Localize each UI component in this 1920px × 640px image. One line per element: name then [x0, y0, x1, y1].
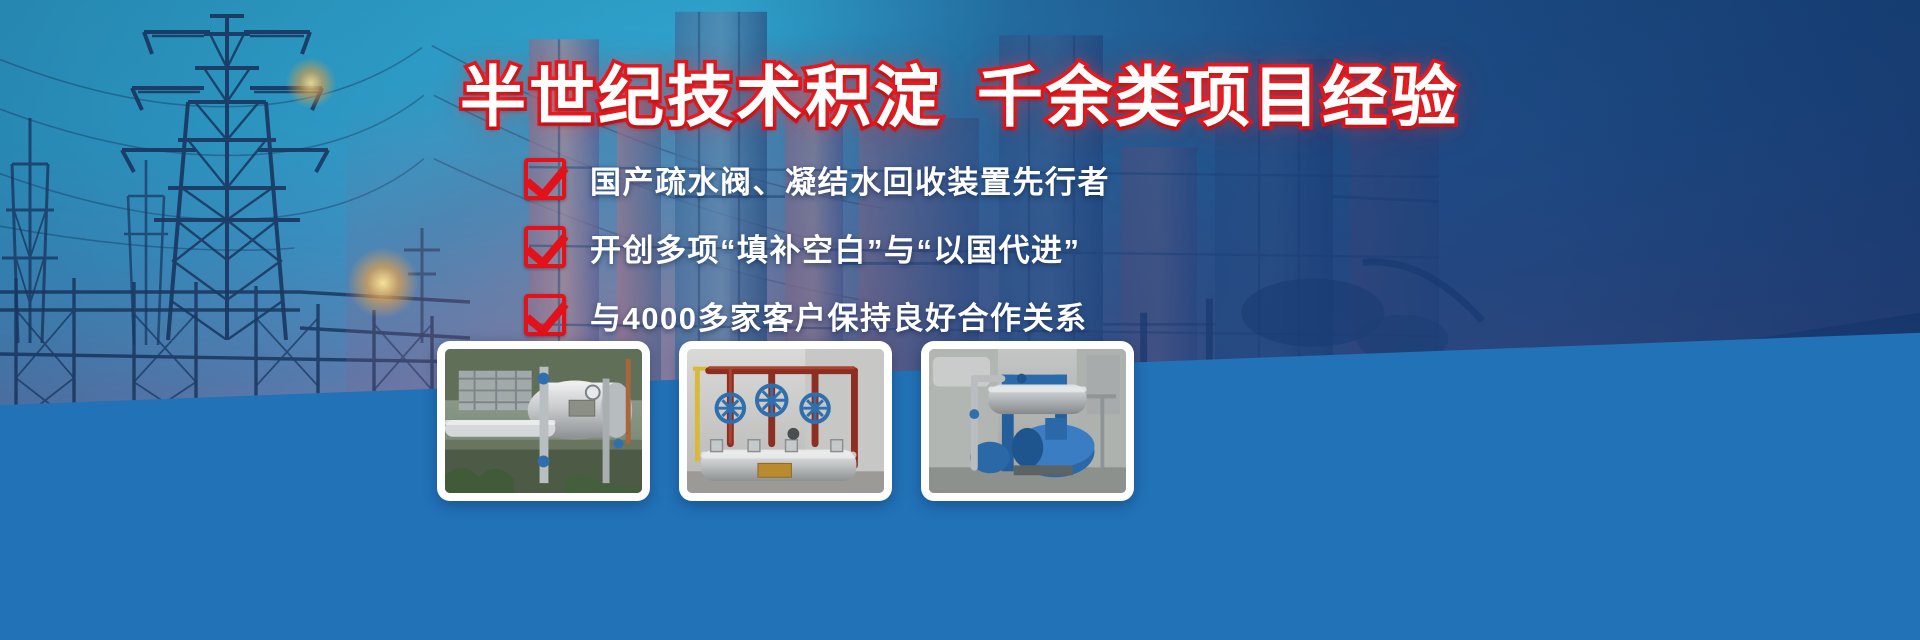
product-photo-gallery: [437, 341, 1134, 501]
headline-part-1: 半世纪技术积淀: [460, 60, 943, 134]
checkbox-checked-icon: [524, 226, 566, 268]
list-item: 与4000多家客户保持良好合作关系: [524, 288, 1110, 342]
photo-card[interactable]: [921, 341, 1134, 501]
photo-card[interactable]: [679, 341, 892, 501]
promo-banner: 半世纪技术积淀千余类项目经验 国产疏水阀、凝结水回收装置先行者 开创多项“填补空…: [0, 0, 1920, 640]
headline-part-2: 千余类项目经验: [977, 60, 1460, 134]
bullet-label: 与4000多家客户保持良好合作关系: [590, 293, 1087, 338]
photo-card[interactable]: [437, 341, 650, 501]
page-title: 半世纪技术积淀千余类项目经验: [0, 44, 1920, 140]
checkbox-checked-icon: [524, 294, 566, 336]
checkbox-checked-icon: [524, 158, 566, 200]
photo-condensate-recovery-vessel: [445, 349, 642, 493]
list-item: 国产疏水阀、凝结水回收装置先行者: [524, 152, 1110, 206]
bullet-label: 国产疏水阀、凝结水回收装置先行者: [590, 157, 1110, 202]
list-item: 开创多项“填补空白”与“以国代进”: [524, 220, 1110, 274]
photo-red-piping-valve-skid: [687, 349, 884, 493]
feature-bullet-list: 国产疏水阀、凝结水回收装置先行者 开创多项“填补空白”与“以国代进” 与4000…: [524, 152, 1110, 356]
photo-blue-pump-recovery-unit: [929, 349, 1126, 493]
bullet-label: 开创多项“填补空白”与“以国代进”: [590, 225, 1081, 270]
